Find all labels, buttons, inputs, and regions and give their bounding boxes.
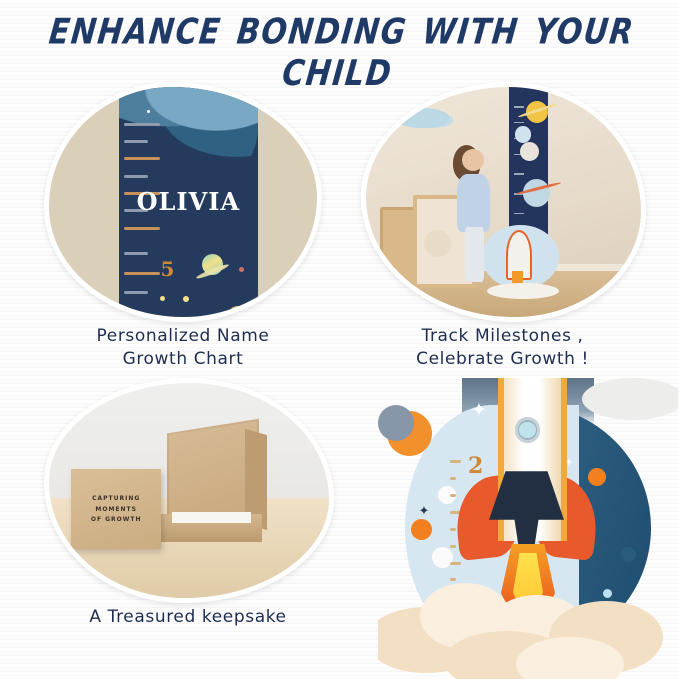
panel-personalized-name[interactable]: OLIVIA 5 Personalized Name Growth Chart bbox=[38, 82, 328, 372]
grey-planet-icon bbox=[378, 405, 414, 441]
panel-1-caption: Personalized Name Growth Chart bbox=[38, 325, 328, 371]
kraft-box-text-line-2: MOMENTS bbox=[71, 505, 161, 515]
box-contents bbox=[172, 512, 250, 523]
top-cloud bbox=[582, 378, 678, 420]
star-dot-icon bbox=[239, 267, 244, 272]
rocket-smoke-icon bbox=[487, 283, 559, 299]
panel-2-artwork bbox=[366, 87, 641, 317]
kraft-box-text-line-1: CAPTURING bbox=[71, 494, 161, 504]
star-dot-icon bbox=[183, 296, 189, 302]
rocket-ruler-number: 2 bbox=[468, 453, 483, 479]
planet-sticker-icon bbox=[523, 179, 551, 207]
chart-child-name: OLIVIA bbox=[119, 187, 258, 216]
panel-3-card: CAPTURING MOMENTS OF GROWTH bbox=[44, 378, 334, 603]
chart-ruler-number: 5 bbox=[160, 257, 174, 281]
rocket-window-glass bbox=[519, 422, 536, 439]
star-dot-icon bbox=[147, 110, 150, 113]
panel-1-caption-line-1: Personalized Name bbox=[38, 325, 328, 348]
panel-1-caption-line-2: Growth Chart bbox=[38, 348, 328, 371]
panel-1-card: OLIVIA 5 bbox=[44, 82, 322, 322]
panel-rocket-closeup[interactable]: ✦ ✦ ✦ ✦ 2 bbox=[378, 378, 678, 679]
panel-track-milestones[interactable]: Track Milestones , Celebrate Growth ! bbox=[355, 82, 650, 372]
child-legs bbox=[465, 227, 484, 282]
child-dress bbox=[457, 174, 490, 232]
yellow-planet-icon bbox=[227, 306, 249, 317]
panel-3-caption: A Treasured keepsake bbox=[38, 606, 338, 629]
kraft-box-front: CAPTURING MOMENTS OF GROWTH bbox=[71, 469, 161, 549]
white-dot-icon bbox=[603, 589, 612, 598]
kraft-box-text: CAPTURING MOMENTS OF GROWTH bbox=[71, 494, 161, 525]
star-dot-icon bbox=[160, 296, 165, 301]
page-header: ENHANCE BONDING WITH YOUR CHILD bbox=[0, 18, 679, 88]
panel-2-caption-line-1: Track Milestones , bbox=[355, 325, 650, 348]
kraft-box-text-line-3: OF GROWTH bbox=[71, 515, 161, 525]
panel-3-artwork: CAPTURING MOMENTS OF GROWTH bbox=[49, 383, 329, 598]
panel-1-artwork: OLIVIA 5 bbox=[49, 87, 317, 317]
panel-3-caption-line-1: A Treasured keepsake bbox=[38, 606, 338, 629]
panel-2-caption: Track Milestones , Celebrate Growth ! bbox=[355, 325, 650, 371]
star-icon: ✦ bbox=[419, 504, 430, 519]
panel-treasured-keepsake[interactable]: CAPTURING MOMENTS OF GROWTH A Treasured … bbox=[38, 378, 338, 648]
growth-chart-board: OLIVIA 5 bbox=[119, 87, 258, 317]
panel-2-caption-line-2: Celebrate Growth ! bbox=[355, 348, 650, 371]
planet-sky-illustration bbox=[119, 87, 258, 187]
page-root: ENHANCE BONDING WITH YOUR CHILD bbox=[0, 0, 679, 679]
dark-crater-icon bbox=[621, 547, 636, 562]
small-rocket-sticker-icon bbox=[515, 126, 532, 143]
panel-2-card bbox=[361, 82, 646, 322]
star-icon: ✦ bbox=[471, 399, 487, 421]
